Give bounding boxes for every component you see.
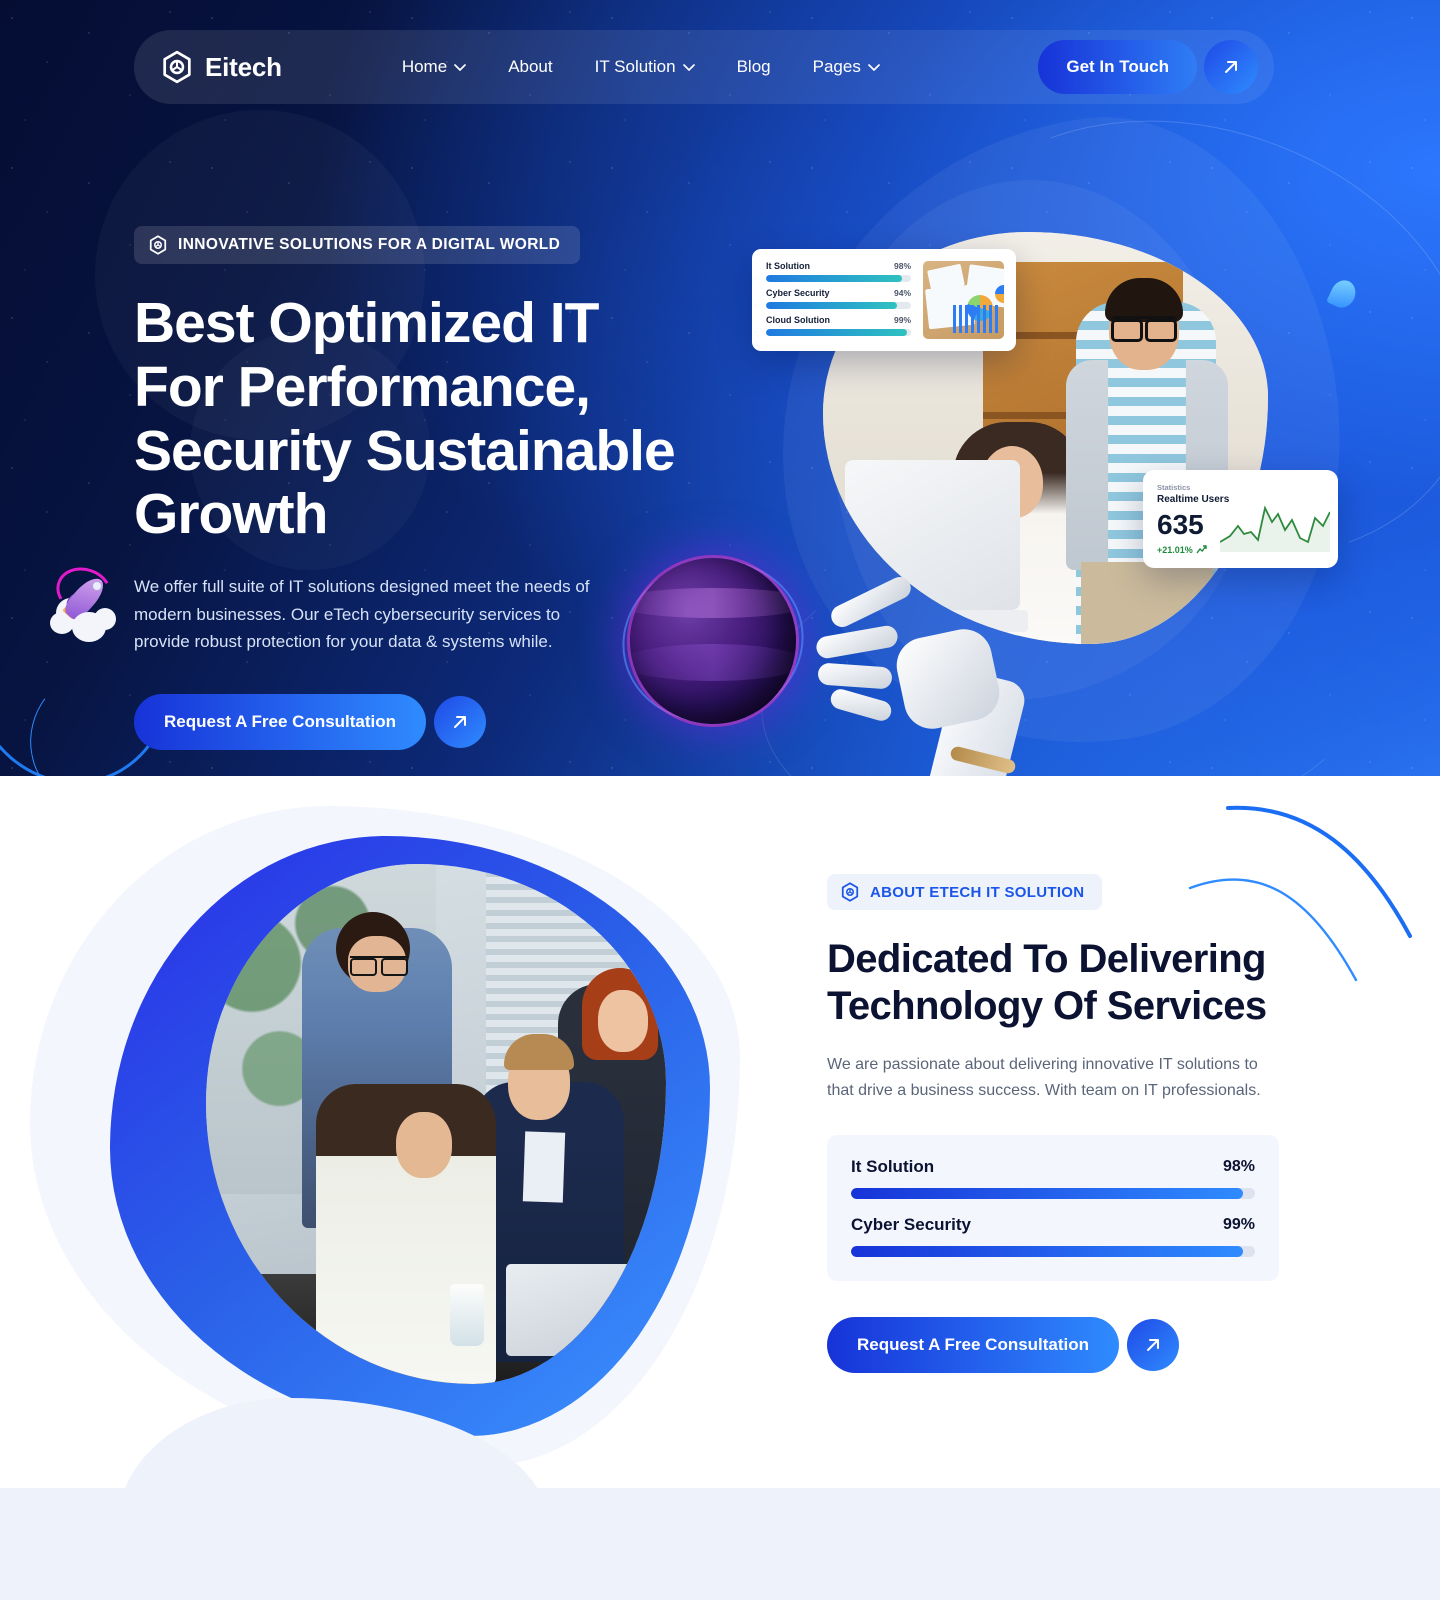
about-section: ABOUT ETECH IT SOLUTION Dedicated To Del…	[0, 776, 1440, 1488]
about-heading: Dedicated To Delivering Technology Of Se…	[827, 936, 1277, 1030]
hero-progress-label: It Solution	[766, 261, 810, 271]
hero-progress-value: 99%	[894, 315, 911, 325]
stats-delta-value: +21.01%	[1157, 545, 1193, 555]
robot-hand-illustration	[800, 585, 1050, 775]
skill-value: 99%	[1223, 1216, 1255, 1234]
nav-links: Home About IT Solution Blog Pages	[402, 57, 880, 77]
get-in-touch-button[interactable]: Get In Touch	[1038, 40, 1197, 94]
arrow-up-right-icon	[1143, 1335, 1163, 1355]
hero-progress-rows: It Solution 98% Cyber Security 94% Clo	[766, 261, 911, 339]
hero-progress-row: Cloud Solution 99%	[766, 315, 911, 336]
rocket-icon	[48, 568, 128, 648]
nav-item-label: Home	[402, 57, 447, 77]
skill-progress-track	[851, 1246, 1255, 1257]
hexagon-logo-icon	[840, 882, 860, 902]
hero-badge-label: INNOVATIVE SOLUTIONS FOR A DIGITAL WORLD	[178, 236, 560, 254]
hexagon-logo-icon	[160, 50, 194, 84]
about-cta-group: Request A Free Consultation	[827, 1317, 1297, 1373]
nav-item-label: Blog	[737, 57, 771, 77]
brand-logo[interactable]: Eitech	[160, 50, 282, 84]
stats-subtitle: Statistics	[1157, 483, 1324, 492]
arrow-up-right-icon	[1221, 57, 1241, 77]
stats-sparkline-chart	[1220, 496, 1330, 552]
nav-item-label: Pages	[813, 57, 861, 77]
hero-progress-card-thumbnail	[923, 261, 1004, 339]
chevron-down-icon	[868, 64, 880, 71]
hero-progress-label: Cloud Solution	[766, 315, 830, 325]
nav-item-label: IT Solution	[595, 57, 676, 77]
about-skills-card: It Solution 98% Cyber Security 99%	[827, 1135, 1279, 1281]
hero-request-consultation-arrow-button[interactable]	[434, 696, 486, 748]
nav-cta-group: Get In Touch	[1038, 40, 1258, 94]
skill-label: Cyber Security	[851, 1215, 971, 1235]
about-content: ABOUT ETECH IT SOLUTION Dedicated To Del…	[827, 874, 1297, 1373]
bottom-section-strip	[0, 1488, 1440, 1600]
hero-progress-track	[766, 329, 911, 336]
trend-up-icon	[1196, 544, 1207, 555]
get-in-touch-arrow-button[interactable]	[1204, 40, 1258, 94]
about-image-wrapper	[110, 836, 710, 1436]
hero-progress-row: Cyber Security 94%	[766, 288, 911, 309]
nav-item-blog[interactable]: Blog	[737, 57, 771, 77]
hero-cta-group: Request A Free Consultation	[134, 694, 694, 750]
nav-item-label: About	[508, 57, 552, 77]
about-badge-label: ABOUT ETECH IT SOLUTION	[870, 884, 1084, 901]
hero-request-consultation-button[interactable]: Request A Free Consultation	[134, 694, 426, 750]
chevron-down-icon	[683, 64, 695, 71]
main-navbar: Eitech Home About IT Solution Blog Pages	[134, 30, 1274, 104]
hero-progress-track	[766, 302, 911, 309]
hero-progress-row: It Solution 98%	[766, 261, 911, 282]
hero-progress-card: It Solution 98% Cyber Security 94% Clo	[752, 249, 1016, 351]
nav-item-home[interactable]: Home	[402, 57, 466, 77]
chevron-down-icon	[454, 64, 466, 71]
hero-progress-label: Cyber Security	[766, 288, 830, 298]
about-request-consultation-button[interactable]: Request A Free Consultation	[827, 1317, 1119, 1373]
skill-row: Cyber Security 99%	[851, 1215, 1255, 1257]
about-photo	[206, 864, 666, 1384]
about-request-consultation-arrow-button[interactable]	[1127, 1319, 1179, 1371]
about-paragraph: We are passionate about delivering innov…	[827, 1052, 1279, 1104]
hero-paragraph: We offer full suite of IT solutions desi…	[134, 573, 604, 656]
hero-badge: INNOVATIVE SOLUTIONS FOR A DIGITAL WORLD	[134, 226, 580, 264]
hexagon-logo-icon	[148, 235, 168, 255]
skill-label: It Solution	[851, 1157, 934, 1177]
skill-row: It Solution 98%	[851, 1157, 1255, 1199]
brand-name: Eitech	[205, 52, 282, 83]
skill-value: 98%	[1223, 1158, 1255, 1176]
hero-section: It Solution 98% Cyber Security 94% Clo	[0, 0, 1440, 776]
nav-item-it-solution[interactable]: IT Solution	[595, 57, 695, 77]
nav-item-pages[interactable]: Pages	[813, 57, 880, 77]
about-badge: ABOUT ETECH IT SOLUTION	[827, 874, 1102, 910]
hero-content: INNOVATIVE SOLUTIONS FOR A DIGITAL WORLD…	[134, 226, 694, 750]
hero-stats-card: Statistics Realtime Users 635 +21.01%	[1143, 470, 1338, 568]
hero-progress-value: 94%	[894, 288, 911, 298]
nav-item-about[interactable]: About	[508, 57, 552, 77]
hero-heading: Best Optimized IT For Performance, Secur…	[134, 292, 694, 547]
hero-progress-track	[766, 275, 911, 282]
skill-progress-track	[851, 1188, 1255, 1199]
hero-progress-value: 98%	[894, 261, 911, 271]
arrow-up-right-icon	[450, 712, 470, 732]
